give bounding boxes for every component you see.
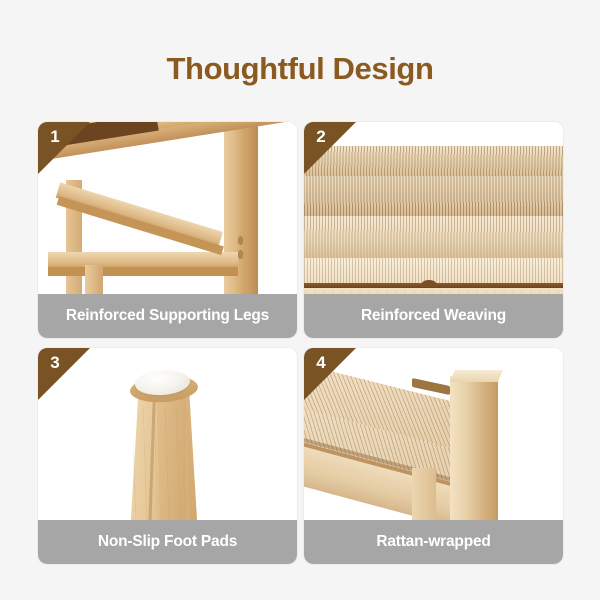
weave-band [304,176,563,218]
weave-center-notch [422,280,436,287]
corner-number-badge-4: 4 [304,348,356,400]
corner-number-badge-1: 1 [38,122,90,174]
horizontal-stretcher-shadow [48,267,238,276]
feature-caption-bar-4: Rattan-wrapped [304,520,563,564]
badge-number: 1 [45,126,65,148]
feature-card-1[interactable]: 1 Reinforced Supporting Legs [38,122,297,338]
corner-post-top-face [450,370,503,382]
product-feature-infographic: Thoughtful Design [0,0,600,600]
corner-number-badge-3: 3 [38,348,90,400]
screw-hole-icon [238,250,243,259]
feature-card-4[interactable]: 4 Rattan-wrapped [304,348,563,564]
feature-caption-bar-1: Reinforced Supporting Legs [38,294,297,338]
corner-number-badge-2: 2 [304,122,356,174]
screw-hole-icon [238,236,243,245]
horizontal-stretcher-shape [48,252,238,268]
feature-caption-text: Reinforced Supporting Legs [66,307,269,325]
page-title: Thoughtful Design [0,50,600,88]
badge-number: 3 [45,352,65,374]
feature-caption-text: Reinforced Weaving [361,307,506,325]
feature-caption-text: Rattan-wrapped [376,533,490,551]
feature-card-2[interactable]: 2 Reinforced Weaving [304,122,563,338]
badge-number: 4 [311,352,331,374]
feature-caption-bar-2: Reinforced Weaving [304,294,563,338]
weave-band [304,216,563,262]
feature-caption-bar-3: Non-Slip Foot Pads [38,520,297,564]
feature-caption-text: Non-Slip Foot Pads [98,533,237,551]
feature-grid: 1 Reinforced Supporting Legs [38,122,563,569]
badge-number: 2 [311,126,331,148]
feature-card-3[interactable]: 3 Non-Slip Foot Pads [38,348,297,564]
